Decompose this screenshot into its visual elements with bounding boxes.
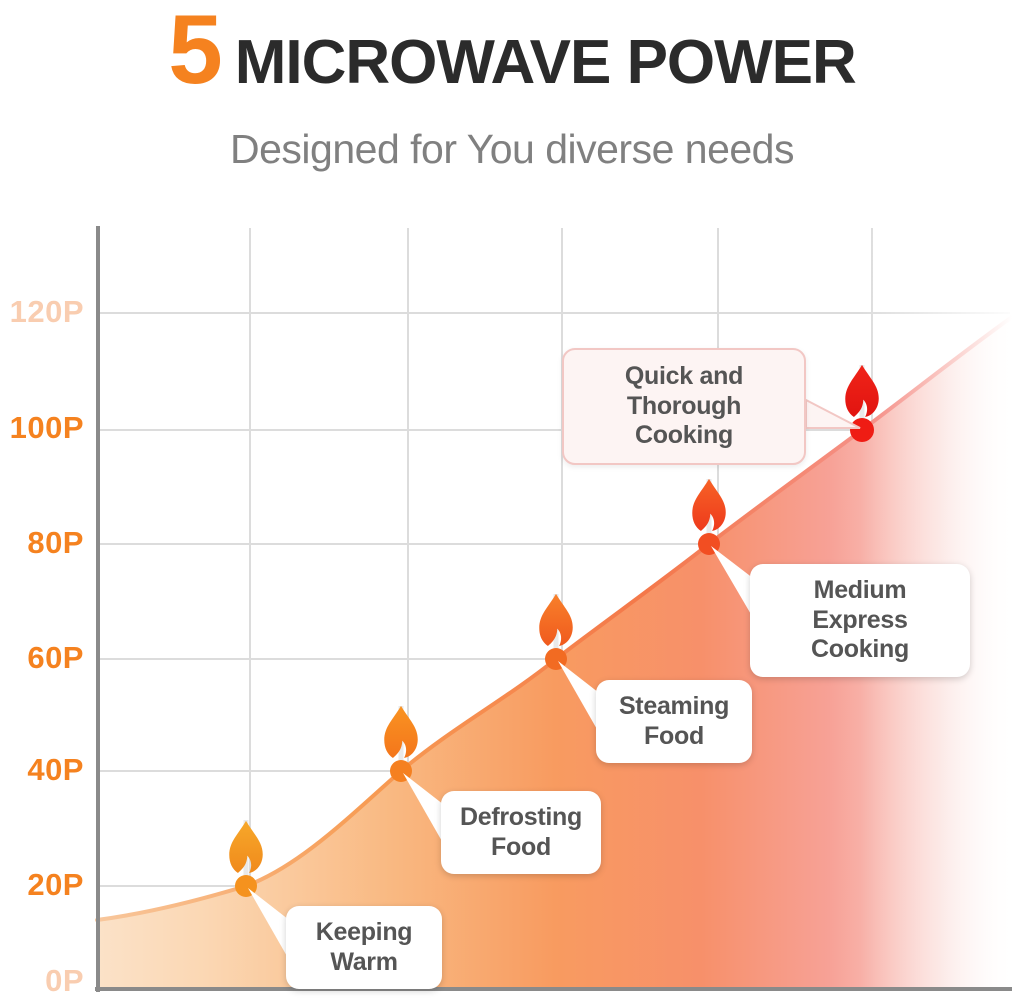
y-tick-40p: 40P: [0, 754, 84, 785]
y-tick-60p: 60P: [0, 642, 84, 673]
y-tick-120p: 120P: [0, 296, 84, 327]
y-tick-20p: 20P: [0, 869, 84, 900]
callout-defrosting-food[interactable]: Defrosting Food: [441, 791, 601, 874]
y-tick-0p: 0P: [0, 965, 84, 996]
infographic-root: 5 MICROWAVE POWER Designed for You diver…: [0, 0, 1024, 1000]
y-tick-100p: 100P: [0, 412, 84, 443]
y-tick-80p: 80P: [0, 527, 84, 558]
callout-medium-express-cooking[interactable]: Medium Express Cooking: [750, 564, 970, 677]
power-level-area-chart: 120P 100P 80P 60P 40P 20P 0P Keeping War…: [0, 0, 1024, 1000]
callout-quick-thorough-cooking[interactable]: Quick and Thorough Cooking: [562, 348, 806, 465]
callout-steaming-food[interactable]: Steaming Food: [596, 680, 752, 763]
callout-keeping-warm[interactable]: Keeping Warm: [286, 906, 442, 989]
